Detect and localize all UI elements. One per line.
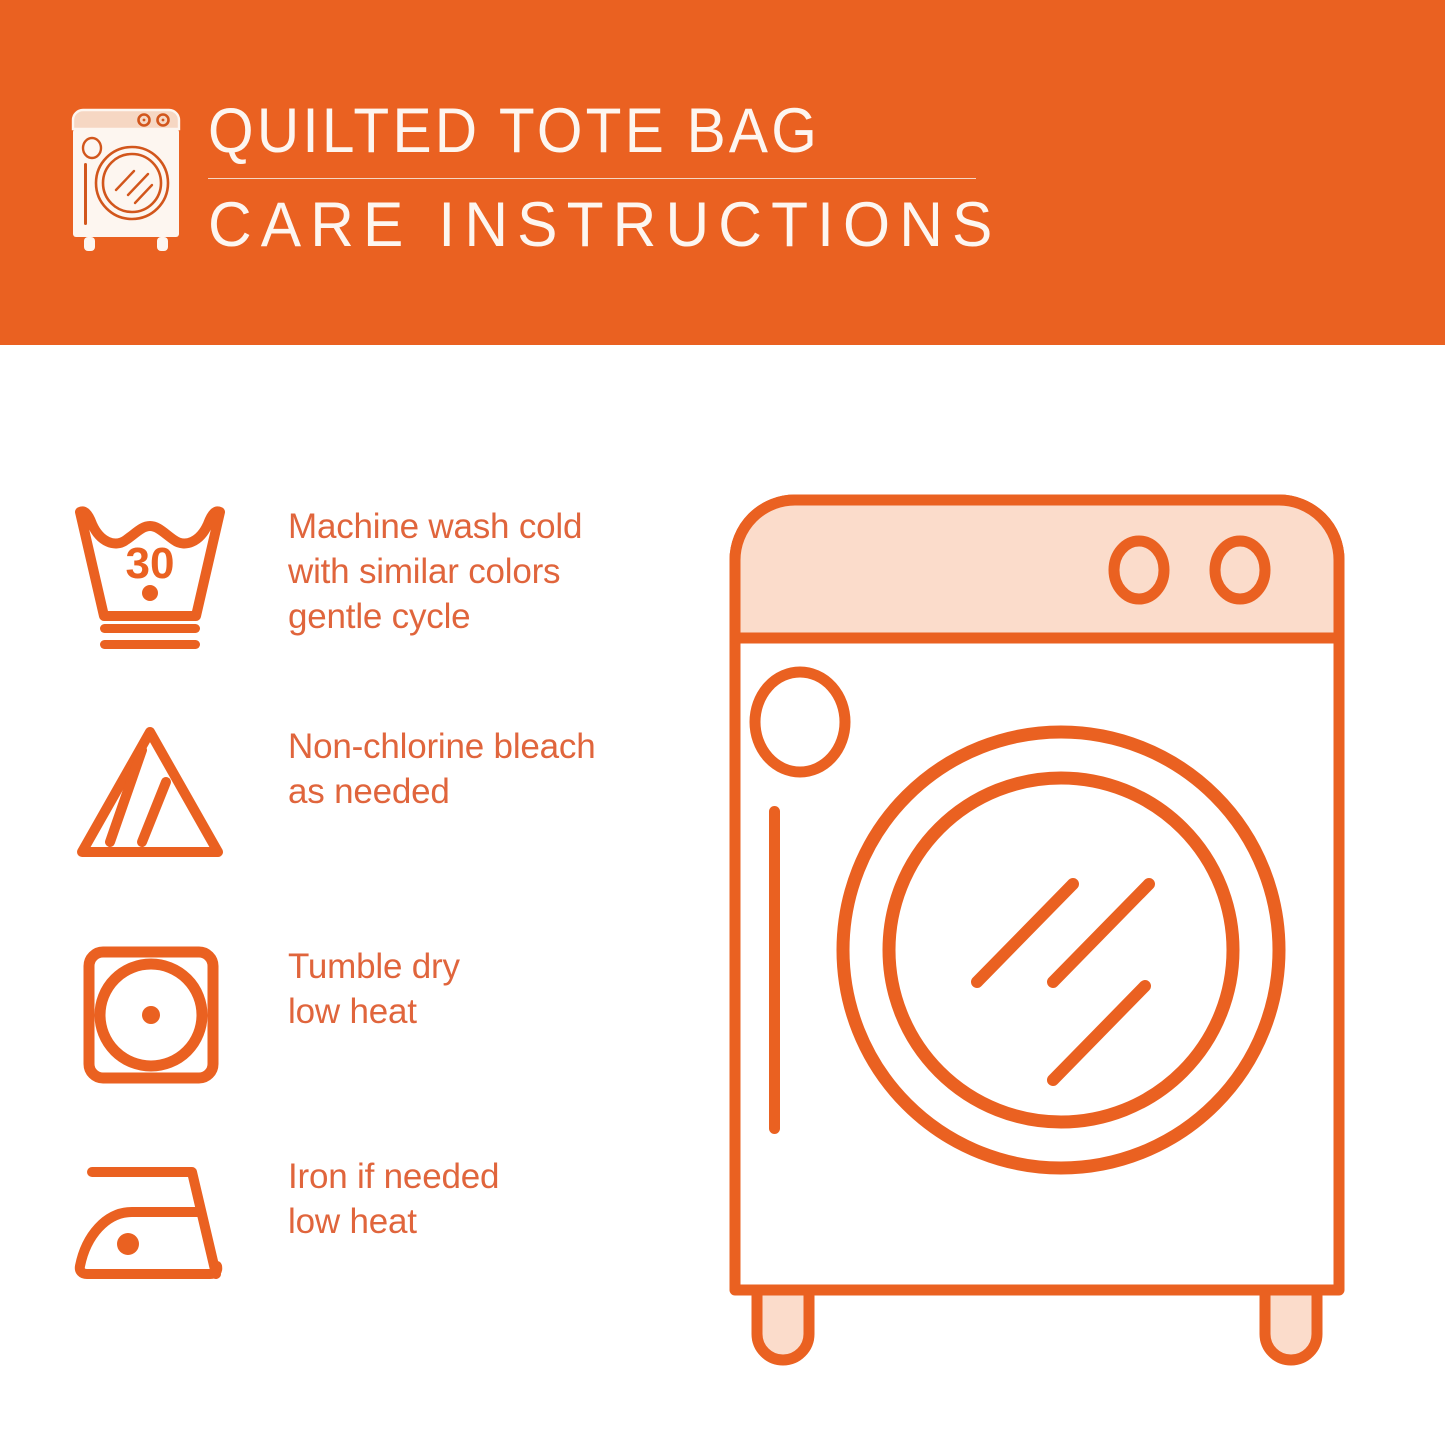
iron-low-heat-icon: [70, 1150, 230, 1300]
care-item-wash-text: Machine wash cold with similar colors ge…: [288, 500, 582, 639]
care-line: gentle cycle: [288, 594, 582, 639]
care-line: Non-chlorine bleach: [288, 724, 596, 769]
care-instructions-list: 30 Machine wash cold with similar colors…: [0, 345, 700, 1445]
care-item-wash: 30 Machine wash cold with similar colors…: [70, 500, 670, 650]
care-item-dry: Tumble dry low heat: [70, 940, 670, 1090]
washing-machine-illustration: [705, 470, 1405, 1390]
care-instructions-page: QUILTED TOTE BAG CARE INSTRUCTIONS 30: [0, 0, 1445, 1445]
care-line: Machine wash cold: [288, 504, 582, 549]
header-banner: QUILTED TOTE BAG CARE INSTRUCTIONS: [0, 0, 1445, 345]
care-line: as needed: [288, 769, 596, 814]
page-title: QUILTED TOTE BAG: [208, 96, 952, 166]
care-item-bleach-text: Non-chlorine bleach as needed: [288, 720, 596, 814]
wash-tub-30-gentle-icon: 30: [70, 500, 230, 650]
care-line: Tumble dry: [288, 944, 460, 989]
care-line: with similar colors: [288, 549, 582, 594]
care-line: Iron if needed: [288, 1154, 499, 1199]
care-line: low heat: [288, 989, 460, 1034]
care-item-bleach: Non-chlorine bleach as needed: [70, 720, 670, 870]
care-line: low heat: [288, 1199, 499, 1244]
non-chlorine-bleach-triangle-icon: [70, 720, 230, 870]
washing-machine-icon: [64, 103, 188, 255]
care-item-dry-text: Tumble dry low heat: [288, 940, 460, 1034]
header-text-block: QUILTED TOTE BAG CARE INSTRUCTIONS: [208, 96, 1008, 261]
care-item-iron: Iron if needed low heat: [70, 1150, 670, 1300]
title-divider: [208, 178, 976, 179]
wash-temp-label: 30: [126, 539, 175, 588]
page-subtitle: CARE INSTRUCTIONS: [208, 189, 976, 261]
tumble-dry-low-icon: [70, 940, 230, 1090]
care-item-iron-text: Iron if needed low heat: [288, 1150, 499, 1244]
